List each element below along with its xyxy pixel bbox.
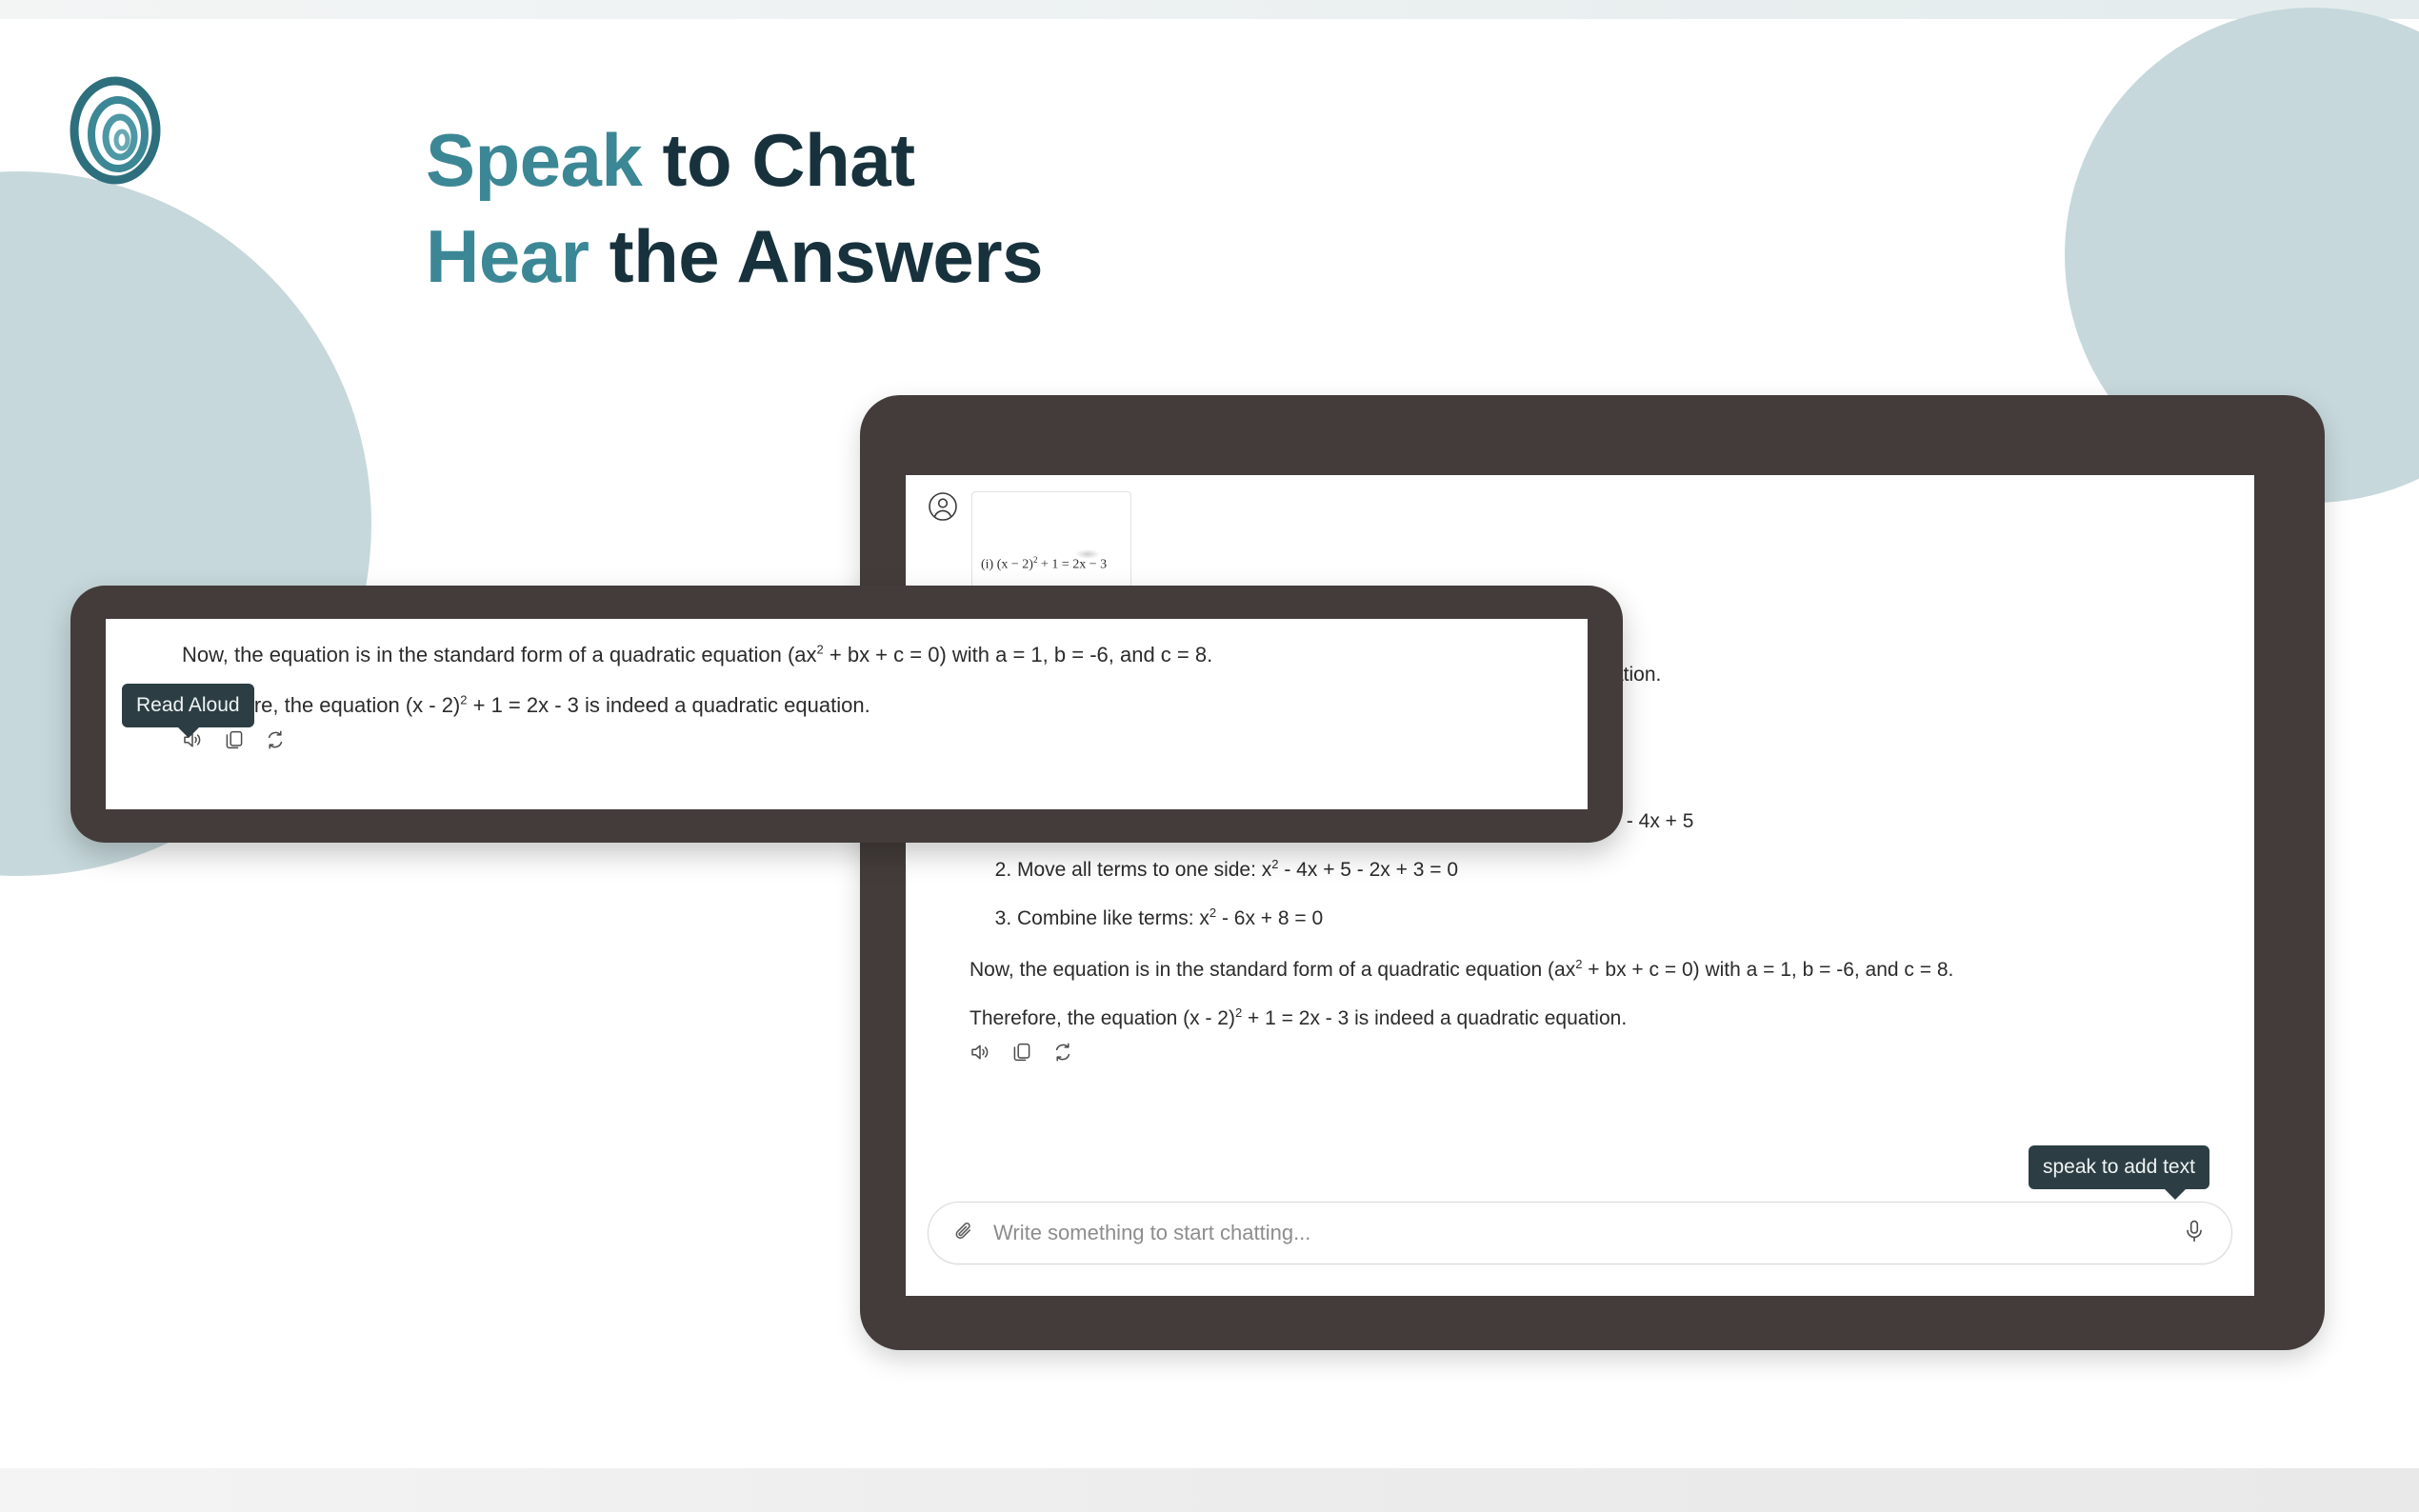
thumbnail-equation: (i) (x − 2)2 + 1 = 2x − 3 [981, 555, 1107, 573]
popup-closing-1: Now, the equation is in the standard for… [182, 642, 1544, 669]
list-item: Move all terms to one side: x2 - 4x + 5 … [1017, 857, 2217, 883]
hero-line-2: Hear the Answers [426, 209, 1569, 305]
popup-action-row [182, 728, 1544, 751]
copy-icon[interactable] [1010, 1041, 1033, 1064]
regenerate-icon[interactable] [1051, 1041, 1074, 1064]
bottom-edge-strip [0, 1468, 2419, 1512]
microphone-icon[interactable] [2182, 1219, 2207, 1248]
spiral-logo [59, 74, 171, 187]
floating-answer-card: Now, the equation is in the standard for… [70, 586, 1623, 843]
page-title: Speak to Chat Hear the Answers [426, 112, 1569, 306]
tooltip-read-aloud: Read Aloud [122, 684, 254, 727]
hero-line-1: Speak to Chat [426, 112, 1569, 209]
popup-closing-2: Therefore, the equation (x - 2)2 + 1 = 2… [182, 692, 1544, 720]
read-aloud-icon[interactable] [970, 1041, 992, 1064]
regenerate-icon[interactable] [264, 728, 287, 751]
tablet-device: (i) (x − 2)2 + 1 = 2x − 3 To determine w… [860, 395, 2325, 1350]
chat-input[interactable] [993, 1221, 2182, 1245]
floating-answer-body: Now, the equation is in the standard for… [182, 642, 1544, 751]
page-canvas: Speak to Chat Hear the Answers (i) (x − [0, 0, 2419, 1512]
hero-rest-2: the Answers [589, 214, 1043, 298]
chat-composer[interactable] [928, 1202, 2232, 1264]
floating-answer-screen: Now, the equation is in the standard for… [106, 619, 1588, 809]
hero-rest-1: to Chat [642, 118, 914, 202]
hero-accent-speak: Speak [426, 118, 642, 202]
top-edge-strip [0, 0, 2419, 19]
list-item: Combine like terms: x2 - 6x + 8 = 0 [1017, 905, 2217, 931]
avatar-icon [928, 491, 958, 522]
answer-action-row [970, 1041, 2217, 1064]
attach-file-icon[interactable] [951, 1218, 978, 1249]
answer-closing-2: Therefore, the equation (x - 2)2 + 1 = 2… [970, 1005, 2217, 1031]
copy-icon[interactable] [223, 728, 246, 751]
answer-closing-1: Now, the equation is in the standard for… [970, 957, 2217, 983]
tooltip-speak-to-add-text: speak to add text [2029, 1145, 2209, 1189]
hero-accent-hear: Hear [426, 214, 589, 298]
